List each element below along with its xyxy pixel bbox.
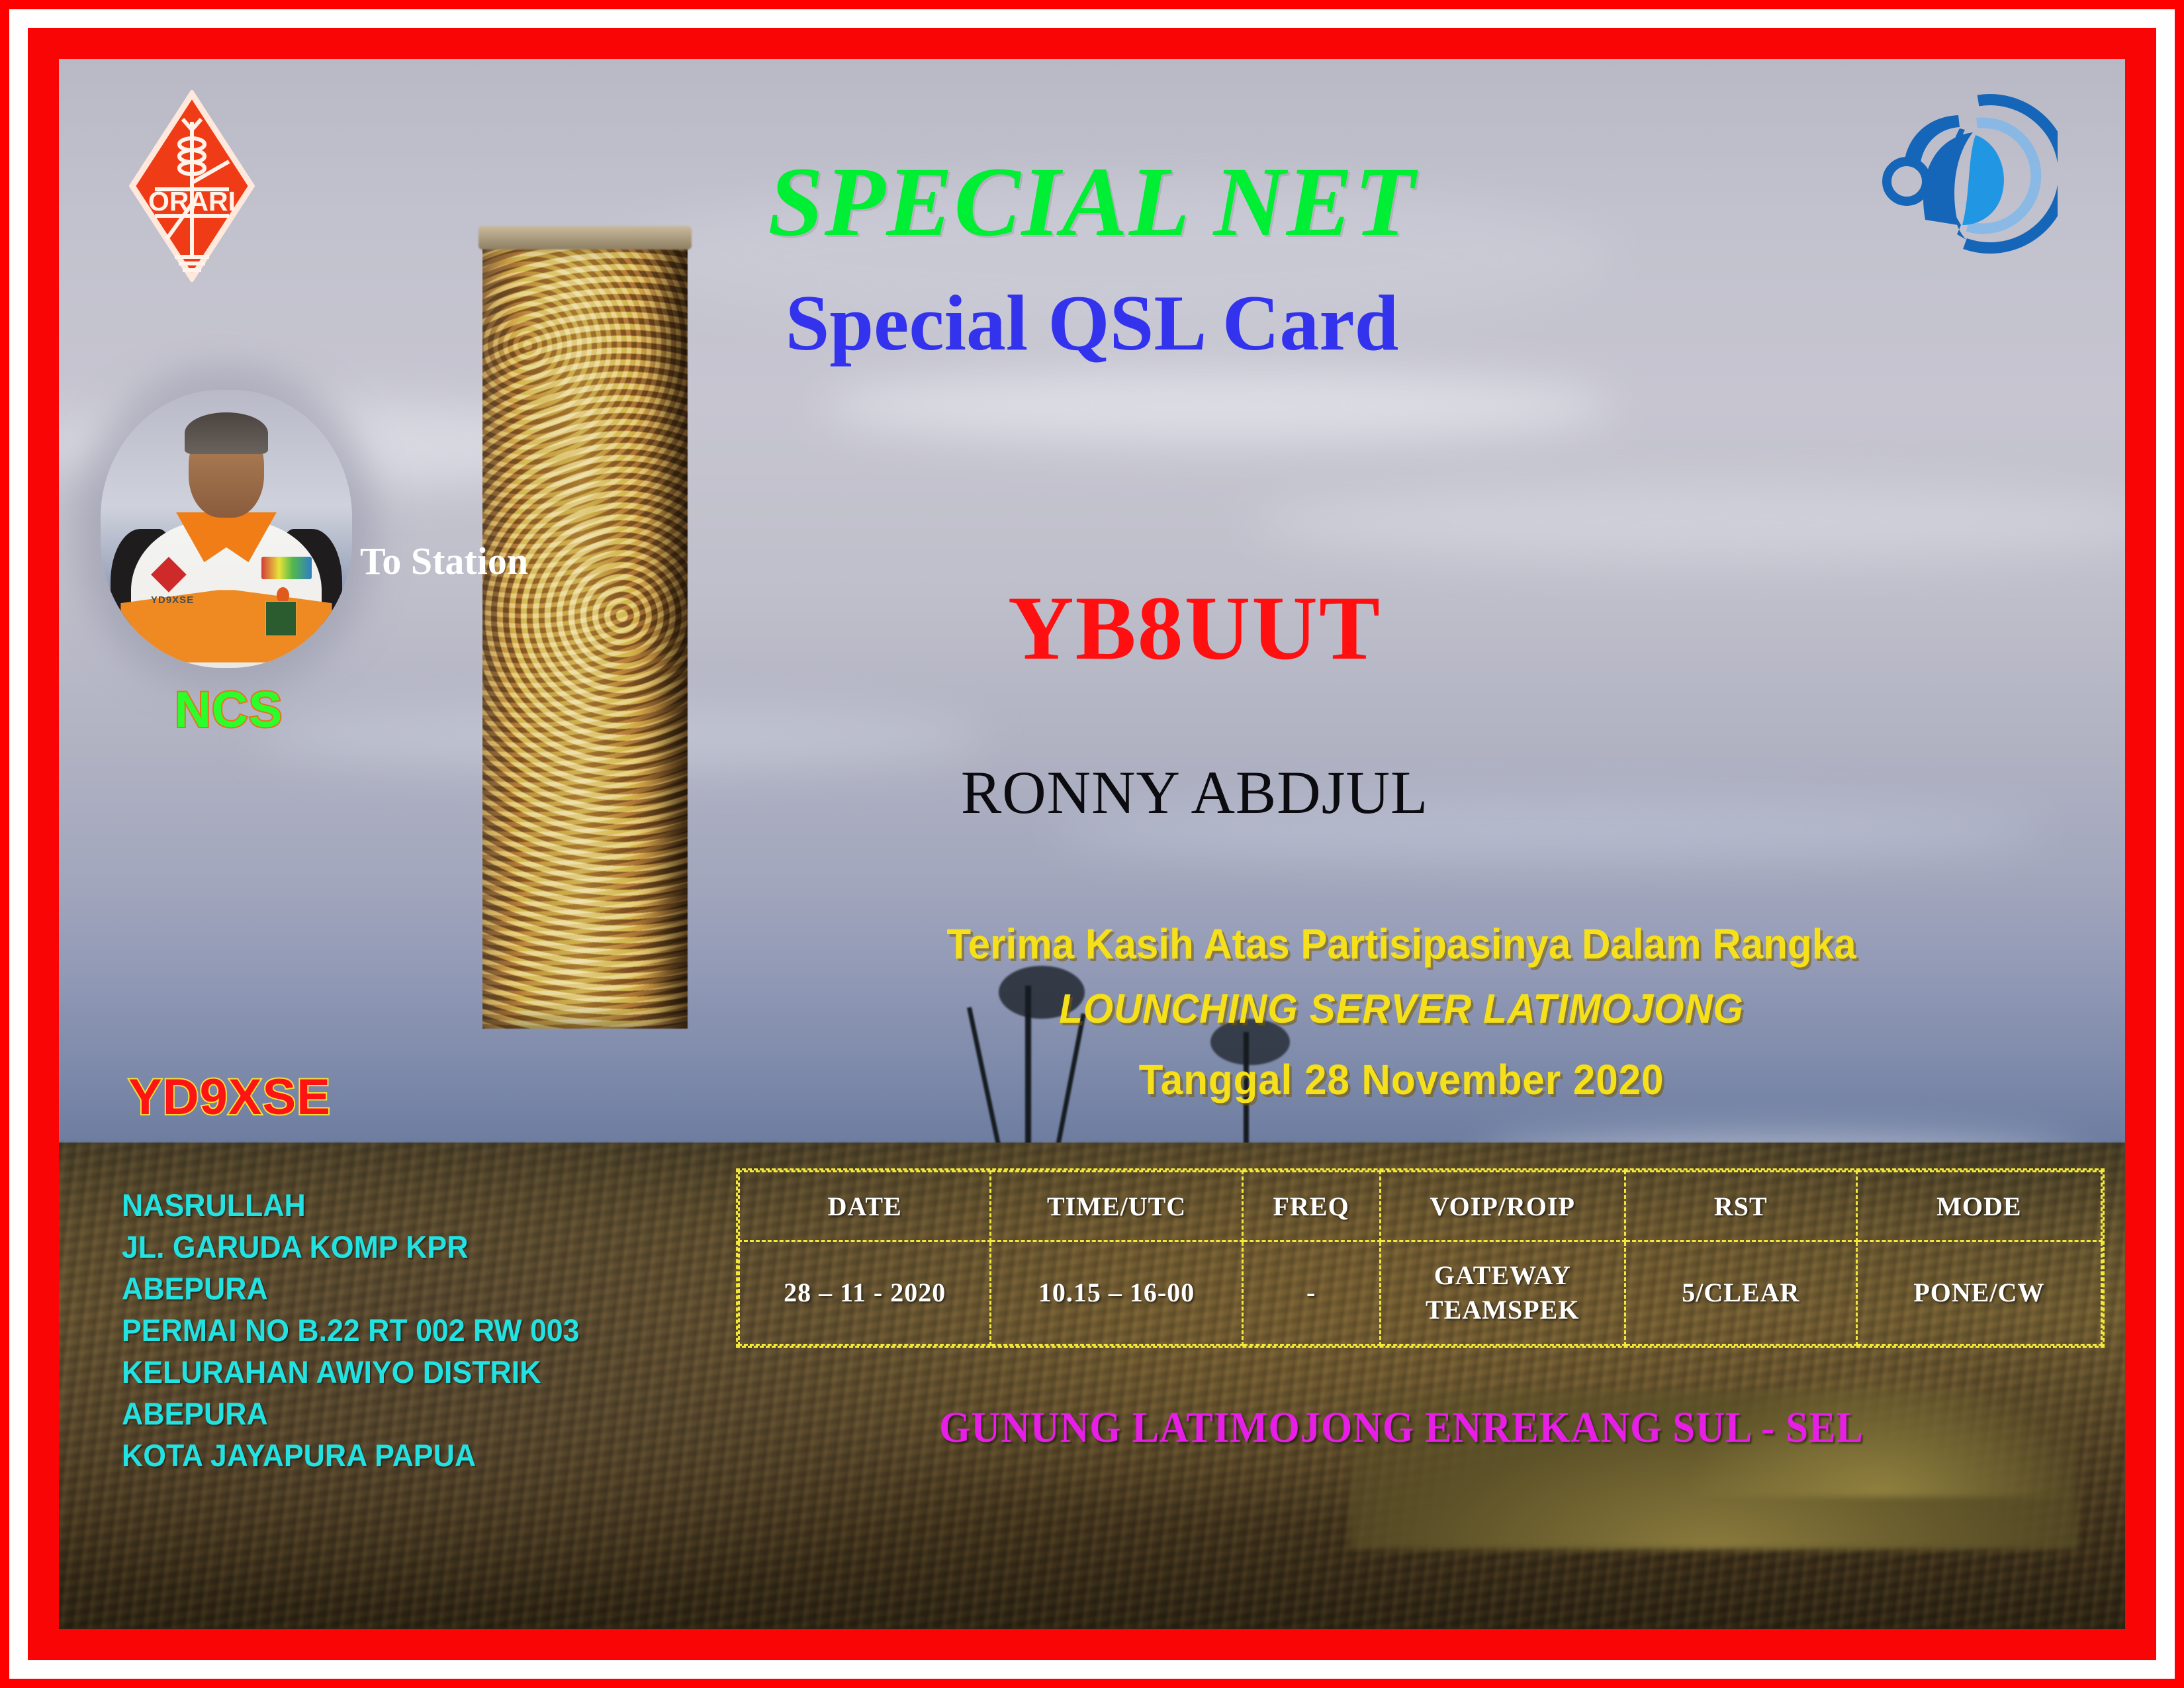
card-photo-background: ORARI — [59, 59, 2125, 1629]
event-date-line: Tanggal 28 November 2020 — [796, 1055, 2007, 1104]
cell-mode: PONE/CW — [1856, 1241, 2101, 1345]
frame-inner-red-border: ORARI — [28, 28, 2156, 1660]
table-row: 28 – 11 - 2020 10.15 – 16-00 - GATEWAY T… — [739, 1241, 2102, 1345]
operator-name: RONNY ABDJUL — [264, 757, 2125, 827]
ncs-callsign: YD9XSE — [128, 1068, 331, 1126]
table-header-mode: MODE — [1856, 1172, 2101, 1241]
web-address-text: Address : amatir.latimojong.com — [1336, 1621, 1950, 1629]
table-header-rst: RST — [1625, 1172, 1856, 1241]
address-line: KOTA JAYAPURA PAPUA — [122, 1434, 579, 1476]
qso-log-table: DATE TIME/UTC FREQ VOIP/ROIP RST MODE 28… — [736, 1168, 2105, 1348]
station-callsign: YB8UUT — [264, 575, 2125, 680]
page-title-special-net: SPECIAL NET — [59, 145, 2125, 259]
table-header-voip: VOIP/ROIP — [1380, 1172, 1625, 1241]
cell-time: 10.15 – 16-00 — [991, 1241, 1242, 1345]
uniform-callsign-patch: YD9XSE — [151, 594, 194, 606]
cell-freq: - — [1242, 1241, 1380, 1345]
motto-text: "AMATIR RADIO ADALAH PROGRESIVE" — [135, 1621, 1000, 1629]
address-line: ABEPURA — [122, 1393, 579, 1434]
page-subtitle-special-qsl-card: Special QSL Card — [59, 277, 2125, 369]
location-line: GUNUNG LATIMOJONG ENREKANG SUL - SEL — [809, 1403, 1994, 1453]
cell-rst: 5/CLEAR — [1625, 1241, 1856, 1345]
qsl-card: ORARI — [0, 0, 2184, 1688]
thanks-line: Terima Kasih Atas Partisipasinya Dalam R… — [796, 919, 2007, 968]
table-header-freq: FREQ — [1242, 1172, 1380, 1241]
event-title-line: LOUNCHING SERVER LATIMOJONG — [796, 986, 2007, 1033]
cell-voip-line2: TEAMSPEK — [1426, 1295, 1579, 1325]
table-header-time: TIME/UTC — [991, 1172, 1242, 1241]
cell-voip-line1: GATEWAY — [1434, 1260, 1571, 1290]
frame-white-gap: ORARI — [9, 9, 2175, 1679]
address-line: JL. GARUDA KOMP KPR — [122, 1226, 579, 1268]
ncs-label: NCS — [175, 681, 283, 739]
table-header-row: DATE TIME/UTC FREQ VOIP/ROIP RST MODE — [739, 1172, 2102, 1241]
address-line: NASRULLAH — [122, 1184, 579, 1226]
table-header-date: DATE — [739, 1172, 991, 1241]
cell-date: 28 – 11 - 2020 — [739, 1241, 991, 1345]
cell-voip: GATEWAY TEAMSPEK — [1380, 1241, 1625, 1345]
address-line: KELURAHAN AWIYO DISTRIK — [122, 1351, 579, 1393]
address-line: ABEPURA — [122, 1268, 579, 1309]
address-line: PERMAI NO B.22 RT 002 RW 003 — [122, 1309, 579, 1351]
mailing-address-block: NASRULLAH JL. GARUDA KOMP KPR ABEPURA PE… — [122, 1184, 579, 1476]
cloud-shape — [820, 370, 1614, 443]
